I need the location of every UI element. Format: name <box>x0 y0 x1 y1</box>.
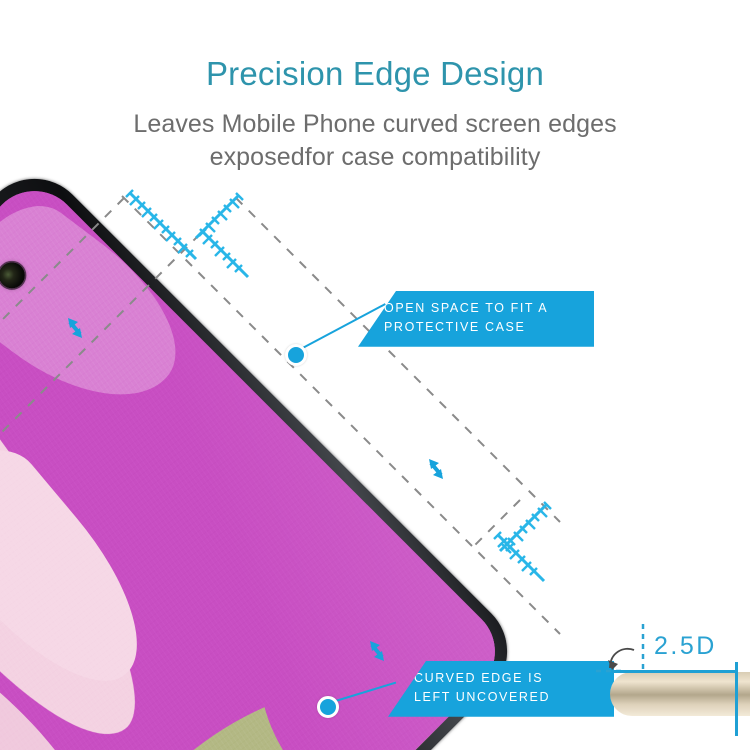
phone-artwork <box>0 157 529 750</box>
ruler-scale-icon-top-left <box>126 190 196 259</box>
ruler-scale-icon-top-right-2 <box>199 229 248 277</box>
page-subtitle: Leaves Mobile Phone curved screen edges … <box>0 108 750 175</box>
glass-top-accent-line <box>612 670 738 673</box>
glass-cross-section <box>610 672 750 716</box>
callout-curved-edge: CURVED EDGE IS LEFT UNCOVERED <box>388 661 614 717</box>
page-subtitle-line-2: exposedfor case compatibility <box>0 141 750 174</box>
product-feature-banner: Precision Edge Design Leaves Mobile Phon… <box>0 0 750 750</box>
edge-thickness-label: 2.5D <box>654 632 717 661</box>
ruler-scale-icon-top-right <box>196 193 243 238</box>
guide-line-right-cross <box>470 500 520 550</box>
edge-thickness-diagram: 2.5D <box>596 618 750 738</box>
ruler-scale-icon-right-upper <box>500 502 551 553</box>
callout-open-space: OPEN SPACE TO FIT A PROTECTIVE CASE <box>358 291 594 347</box>
connector-dot-icon-curved-edge <box>317 696 339 718</box>
glass-right-accent-line <box>735 662 738 736</box>
phone-frame <box>0 157 529 750</box>
connector-dot-icon-open-space <box>285 344 307 366</box>
ruler-scale-icon-right-lower <box>494 532 544 581</box>
page-subtitle-line-1: Leaves Mobile Phone curved screen edges <box>0 108 750 141</box>
page-title: Precision Edge Design <box>0 56 750 92</box>
double-arrow-icon-middle <box>429 459 443 479</box>
